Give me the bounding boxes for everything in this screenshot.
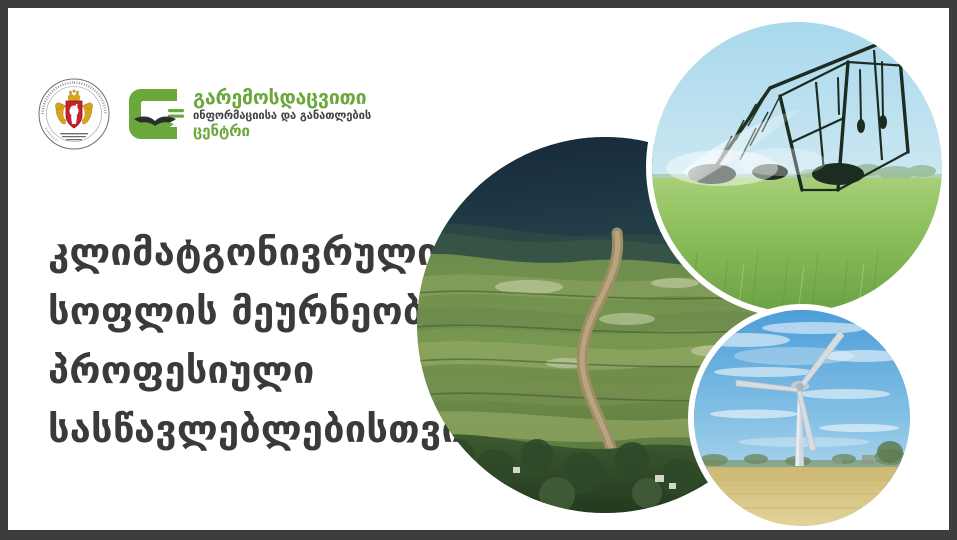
headline-line-2: სოფლის მეურნეობა	[48, 282, 468, 341]
poster-card: გარემოსდაცვითი ინფორმაციისა და განათლები…	[8, 8, 949, 530]
wind-turbine-photo	[694, 310, 910, 526]
page-title: კლიმატგონივრული სოფლის მეურნეობა პროფესი…	[48, 223, 468, 459]
headline-line-3: პროფესიული	[48, 341, 468, 400]
headline-line-1: კლიმატგონივრული	[48, 223, 468, 282]
headline-line-4: სასწავლებლებისთვის	[48, 400, 468, 459]
poster: გარემოსდაცვითი ინფორმაციისა და განათლები…	[0, 0, 957, 540]
environmental-information-education-center-logo: გარემოსდაცვითი ინფორმაციისა და განათლები…	[124, 83, 371, 145]
aerial-valley-landscape-photo	[417, 137, 793, 513]
environmental-information-education-center-mark	[124, 83, 186, 145]
logo-lockup: გარემოსდაცვითი ინფორმაციისა და განათლები…	[38, 78, 371, 150]
center-logo-line-3: ცენტრი	[193, 123, 371, 140]
center-logo-line-2: ინფორმაციისა და განათლების	[193, 109, 371, 123]
government-of-georgia-emblem	[38, 78, 110, 150]
center-logo-line-1: გარემოსდაცვითი	[193, 88, 371, 108]
center-pivot-irrigation-photo	[652, 22, 942, 312]
center-logo-wordmark: გარემოსდაცვითი ინფორმაციისა და განათლები…	[193, 88, 371, 140]
